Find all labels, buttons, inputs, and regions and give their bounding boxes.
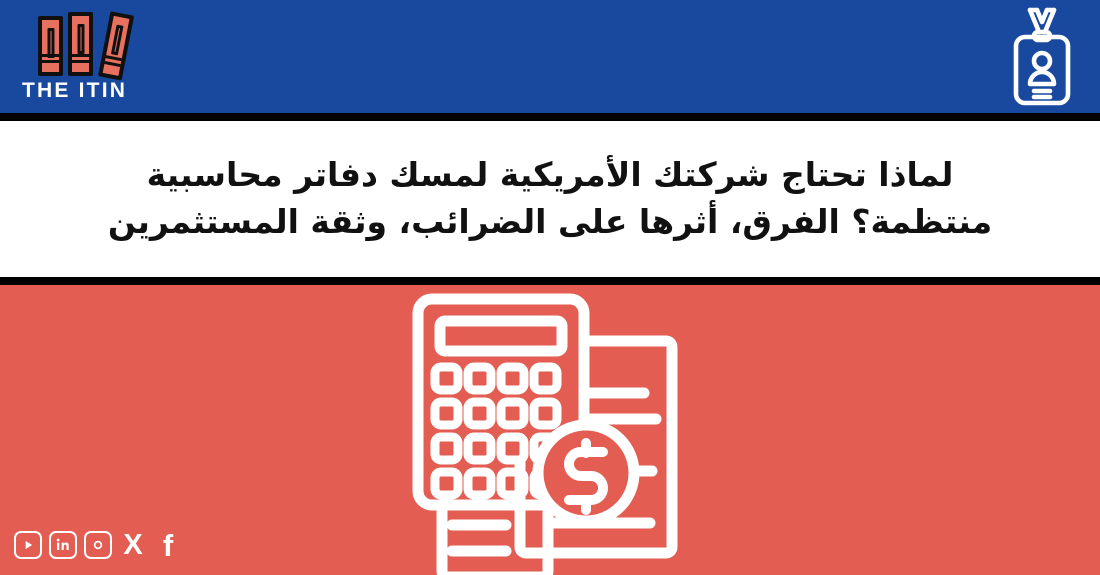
book-band-3b xyxy=(104,61,120,67)
header-bar: THE ITIN xyxy=(0,0,1100,113)
linkedin-icon[interactable] xyxy=(49,531,77,559)
headline-section: لماذا تحتاج شركتك الأمريكية لمسك دفاتر م… xyxy=(0,121,1100,277)
id-badge-person-icon xyxy=(1006,6,1078,108)
book-spine-line-2 xyxy=(77,24,84,54)
three-books-icon xyxy=(34,6,134,76)
book-shape-2 xyxy=(68,12,93,76)
book-band-3a xyxy=(106,55,122,61)
facebook-icon[interactable]: f xyxy=(154,531,182,559)
book-spine-line-3 xyxy=(111,25,124,56)
facebook-glyph: f xyxy=(163,530,173,561)
book-band-1b xyxy=(42,60,59,63)
brand-logo[interactable]: THE ITIN xyxy=(22,6,152,108)
social-media-post: THE ITIN xyxy=(0,0,1100,575)
book-shape-1 xyxy=(38,16,63,76)
page-title: لماذا تحتاج شركتك الأمريكية لمسك دفاتر م… xyxy=(108,152,992,246)
social-links: X f xyxy=(14,531,182,559)
headline-line-1: لماذا تحتاج شركتك الأمريكية لمسك دفاتر م… xyxy=(108,152,992,199)
calculator-document-dollar-icon xyxy=(400,285,700,575)
book-shape-3 xyxy=(98,11,134,80)
headline-line-2: منتظمة؟ الفرق، أثرها على الضرائب، وثقة ا… xyxy=(108,199,992,246)
book-band-2a xyxy=(72,54,89,57)
x-twitter-icon[interactable]: X xyxy=(119,531,147,559)
youtube-icon[interactable] xyxy=(14,531,42,559)
brand-wordmark: THE ITIN xyxy=(22,79,152,103)
divider-top xyxy=(0,113,1100,121)
book-band-2b xyxy=(72,60,89,63)
divider-bottom xyxy=(0,277,1100,285)
x-twitter-glyph: X xyxy=(123,531,142,560)
illustration-panel: X f xyxy=(0,285,1100,575)
book-band-1a xyxy=(42,54,59,57)
instagram-icon[interactable] xyxy=(84,531,112,559)
